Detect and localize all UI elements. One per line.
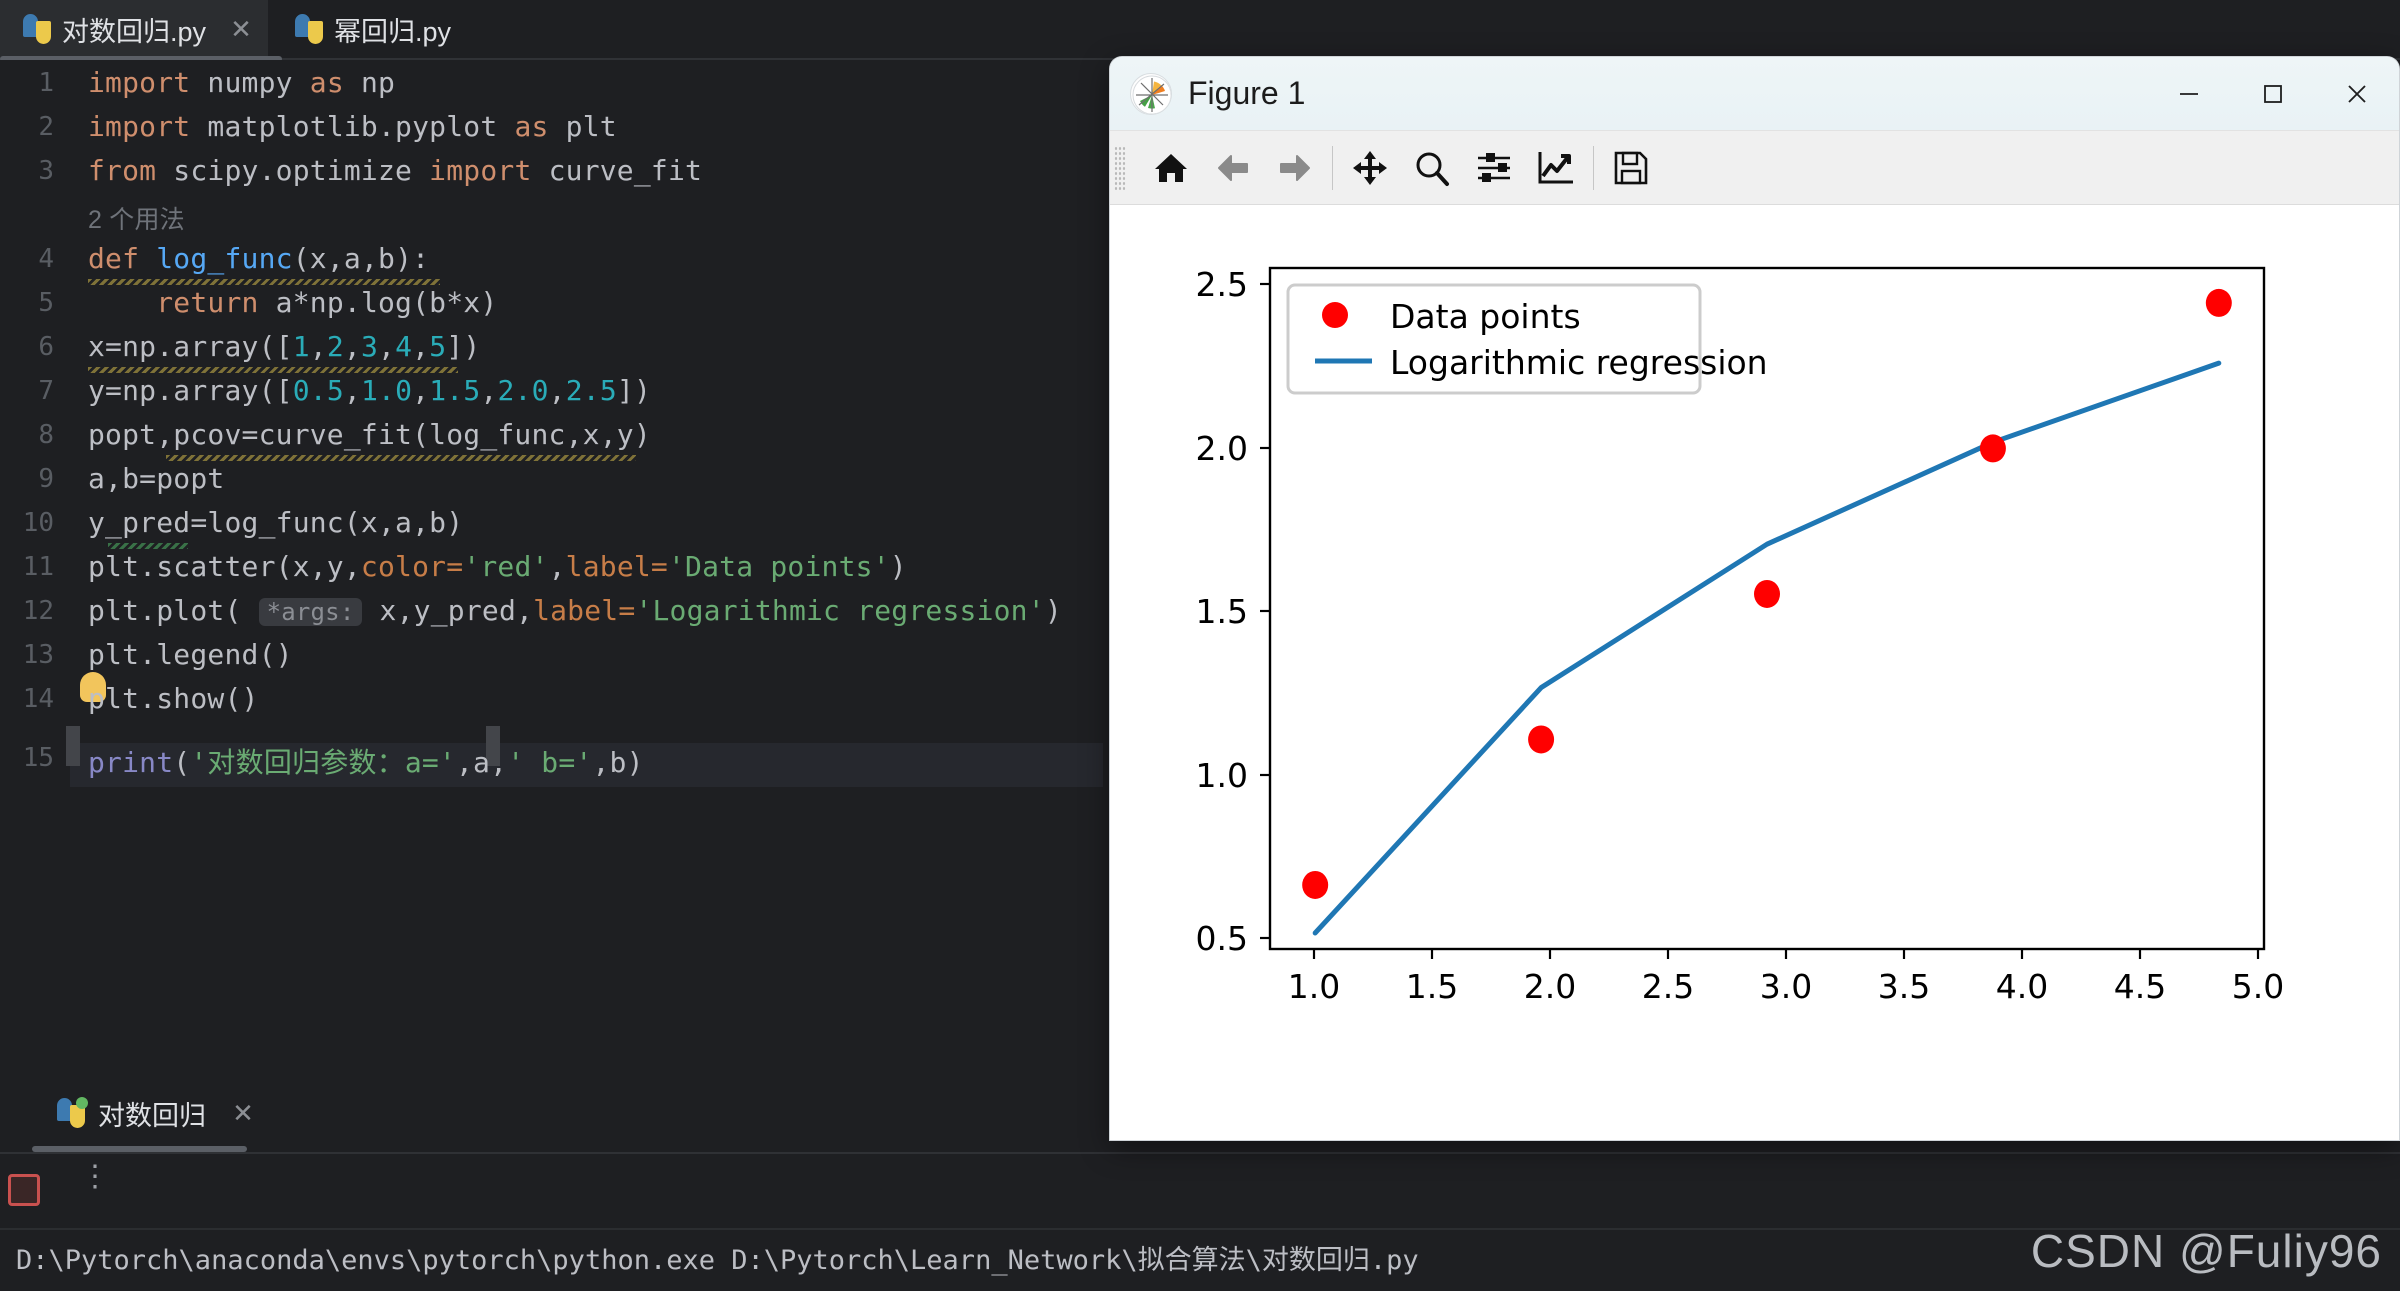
code-text: (x,a,b): xyxy=(293,242,429,275)
code-text: ,b xyxy=(592,746,626,779)
run-tab-divider xyxy=(0,1152,2400,1154)
matplotlib-axes: 2.5 2.0 1.5 1.0 0.5 xyxy=(1110,205,2399,1140)
number-literal: 1.0 xyxy=(361,374,412,407)
code-text: matplotlib.pyplot xyxy=(190,110,514,143)
line-number: 2 xyxy=(4,112,54,142)
comma: , xyxy=(378,330,395,363)
keyword-as: as xyxy=(310,66,344,99)
text-selection-left xyxy=(66,726,80,766)
minimize-button[interactable] xyxy=(2147,57,2231,130)
magnifier-icon xyxy=(1412,148,1452,188)
code-line-15: print('对数回归参数：a=',a,' b=',b) xyxy=(88,741,644,785)
legend-label-regression: Logarithmic regression xyxy=(1390,343,1768,382)
code-text: plt.scatter(x,y, xyxy=(88,550,361,583)
data-point xyxy=(1302,871,1328,899)
run-tab-log-regression[interactable]: 对数回归 ✕ xyxy=(56,1088,256,1138)
line-number: 10 xyxy=(4,508,54,538)
home-icon xyxy=(1151,148,1191,188)
code-line-11: plt.scatter(x,y,color='red',label='Data … xyxy=(88,550,907,594)
code-text: a*np.log(b*x) xyxy=(259,286,498,319)
figure-window[interactable]: Figure 1 xyxy=(1110,57,2399,1140)
run-tab-label: 对数回归 xyxy=(98,1094,206,1133)
back-button[interactable] xyxy=(1202,137,1264,199)
number-literal: 2.5 xyxy=(566,374,617,407)
x-tick-label: 2.0 xyxy=(1524,967,1576,1006)
code-text: scipy.optimize xyxy=(156,154,429,187)
data-point xyxy=(1980,434,2006,462)
line-number: 9 xyxy=(4,464,54,494)
line-number: 8 xyxy=(4,420,54,450)
run-tab-close-icon[interactable]: ✕ xyxy=(230,1098,256,1129)
editor-gutter: 1 2 3 4 5 6 7 8 9 10 11 12 13 14 15 xyxy=(0,60,70,1080)
string-literal: 'Logarithmic regression' xyxy=(635,594,1044,627)
y-tick-label: 2.0 xyxy=(1196,429,1248,468)
parameter-hint[interactable]: *args: xyxy=(259,598,363,626)
figure-title: Figure 1 xyxy=(1188,75,1305,112)
comma: , xyxy=(310,330,327,363)
code-line-13: plt.legend() xyxy=(88,638,293,682)
figure-toolbar xyxy=(1110,130,2399,205)
line-number: 4 xyxy=(4,244,54,274)
paren: ( xyxy=(173,746,190,779)
number-literal: 4 xyxy=(395,330,412,363)
screen: 对数回归.py ✕ 幂回归.py 1 2 3 4 5 6 7 8 9 xyxy=(0,0,2400,1291)
editor-tab-label: 对数回归.py xyxy=(62,10,206,49)
edit-axis-button[interactable] xyxy=(1525,137,1587,199)
kwarg-label: label= xyxy=(566,550,668,583)
warning-squiggle xyxy=(88,367,458,373)
x-tick-label: 3.0 xyxy=(1760,967,1812,1006)
y-tick-label: 2.5 xyxy=(1196,265,1248,304)
matplotlib-icon xyxy=(1130,73,1172,115)
x-tick-label: 5.0 xyxy=(2232,967,2284,1006)
code-text: ]) xyxy=(617,374,651,407)
configure-subplots-button[interactable] xyxy=(1463,137,1525,199)
line-number: 5 xyxy=(4,288,54,318)
line-number: 6 xyxy=(4,332,54,362)
move-icon xyxy=(1350,148,1390,188)
code-line-5: return a*np.log(b*x) xyxy=(88,286,497,330)
toolbar-drag-handle[interactable] xyxy=(1114,146,1126,190)
number-literal: 1.5 xyxy=(429,374,480,407)
code-text: plt xyxy=(549,110,617,143)
pan-button[interactable] xyxy=(1339,137,1401,199)
python-file-icon xyxy=(294,14,324,44)
function-name: log_func xyxy=(139,242,293,275)
arrow-right-icon xyxy=(1275,148,1315,188)
close-button[interactable] xyxy=(2315,57,2399,130)
string-literal: '对数回归参数：a=' xyxy=(190,746,456,779)
editor-tab-close-icon[interactable]: ✕ xyxy=(228,14,254,45)
y-tick-label: 1.0 xyxy=(1196,756,1248,795)
editor-tab-bar: 对数回归.py ✕ 幂回归.py xyxy=(0,0,2400,58)
code-text: ]) xyxy=(446,330,480,363)
line-number: 12 xyxy=(4,596,54,626)
code-text: ,a, xyxy=(456,746,507,779)
number-literal: 2.0 xyxy=(497,374,548,407)
code-line-2: import matplotlib.pyplot as plt xyxy=(88,110,617,154)
code-text: ) xyxy=(1045,594,1062,627)
code-line-9: a,b=popt xyxy=(88,462,224,506)
arrow-left-icon xyxy=(1213,148,1253,188)
code-text: np xyxy=(344,66,395,99)
python-file-icon xyxy=(22,14,52,44)
stop-process-button[interactable] xyxy=(8,1174,40,1206)
code-text: x=np.array([ xyxy=(88,330,293,363)
x-tick-label: 4.0 xyxy=(1996,967,2048,1006)
usages-inlay-hint[interactable]: 2 个用法 xyxy=(88,200,185,244)
keyword-def: def xyxy=(88,242,139,275)
x-tick-label: 3.5 xyxy=(1878,967,1930,1006)
line-number: 14 xyxy=(4,684,54,714)
code-editor[interactable]: 1 2 3 4 5 6 7 8 9 10 11 12 13 14 15 impo… xyxy=(0,60,1103,1080)
keyword-from: from xyxy=(88,154,156,187)
info-squiggle xyxy=(108,543,188,549)
code-line-12: plt.plot( *args: x,y_pred,label='Logarit… xyxy=(88,594,1062,638)
number-literal: 1 xyxy=(293,330,310,363)
code-line-3: from scipy.optimize import curve_fit xyxy=(88,154,702,198)
legend-marker-data-points xyxy=(1322,302,1348,328)
code-text-area[interactable]: import numpy as np import matplotlib.pyp… xyxy=(88,60,1103,1080)
console-command-line: D:\Pytorch\anaconda\envs\pytorch\python.… xyxy=(16,1238,1419,1277)
y-tick-label: 1.5 xyxy=(1196,592,1248,631)
toolbar-separator xyxy=(1593,146,1594,190)
keyword-import: import xyxy=(429,154,531,187)
string-literal: 'Data points' xyxy=(668,550,890,583)
chart-legend: Data points Logarithmic regression xyxy=(1288,285,1768,393)
chart-line-icon xyxy=(1536,148,1576,188)
x-tick-label: 2.5 xyxy=(1642,967,1694,1006)
number-literal: 2 xyxy=(327,330,344,363)
zoom-button[interactable] xyxy=(1401,137,1463,199)
number-literal: 5 xyxy=(429,330,446,363)
code-text: numpy xyxy=(190,66,309,99)
x-tick-label: 1.5 xyxy=(1406,967,1458,1006)
x-tick-label: 1.0 xyxy=(1288,967,1340,1006)
watermark-text: CSDN @Fuliy96 xyxy=(2031,1224,2382,1278)
editor-tab-label: 幂回归.py xyxy=(334,10,451,49)
figure-title-bar[interactable]: Figure 1 xyxy=(1110,57,2399,130)
kwarg-label: label= xyxy=(533,594,635,627)
legend-label-data-points: Data points xyxy=(1390,297,1581,336)
toolbar-separator xyxy=(1332,146,1333,190)
code-text xyxy=(88,286,156,319)
floppy-disk-icon xyxy=(1611,148,1651,188)
comma: , xyxy=(344,374,361,407)
data-point xyxy=(1528,725,1554,753)
more-options-icon[interactable]: ⋮ xyxy=(80,1172,88,1182)
x-tick-label: 4.5 xyxy=(2114,967,2166,1006)
line-number: 15 xyxy=(4,743,54,773)
sliders-icon xyxy=(1474,148,1514,188)
code-text: y=np.array([ xyxy=(88,374,293,407)
line-number: 11 xyxy=(4,552,54,582)
string-literal: 'red' xyxy=(463,550,548,583)
maximize-button[interactable] xyxy=(2231,57,2315,130)
warning-squiggle xyxy=(88,279,440,285)
line-number: 3 xyxy=(4,156,54,186)
warning-squiggle xyxy=(166,455,636,461)
keyword-return: return xyxy=(156,286,258,319)
line-number: 13 xyxy=(4,640,54,670)
python-run-icon xyxy=(56,1098,86,1128)
comma: , xyxy=(412,374,429,407)
comma: , xyxy=(480,374,497,407)
data-point xyxy=(1754,580,1780,608)
string-literal: ' b=' xyxy=(507,746,592,779)
y-tick-label: 0.5 xyxy=(1196,919,1248,958)
home-button[interactable] xyxy=(1140,137,1202,199)
comma: , xyxy=(344,330,361,363)
code-text: plt.plot( xyxy=(88,594,259,627)
keyword-import: import xyxy=(88,66,190,99)
code-text: curve_fit xyxy=(532,154,703,187)
code-line-1: import numpy as np xyxy=(88,66,395,110)
comma: , xyxy=(549,374,566,407)
window-controls xyxy=(2147,57,2399,130)
forward-button[interactable] xyxy=(1264,137,1326,199)
data-point xyxy=(2206,289,2232,317)
comma: , xyxy=(412,330,429,363)
number-literal: 3 xyxy=(361,330,378,363)
number-literal: 0.5 xyxy=(293,374,344,407)
editor-tab-log-regression[interactable]: 对数回归.py ✕ xyxy=(0,0,268,58)
code-line-14: plt.show() xyxy=(88,682,259,726)
code-text: x,y_pred, xyxy=(362,594,533,627)
keyword-import: import xyxy=(88,110,190,143)
line-number: 1 xyxy=(4,68,54,98)
kwarg-color: color= xyxy=(361,550,463,583)
builtin-print: print xyxy=(88,746,173,779)
code-line-7: y=np.array([0.5,1.0,1.5,2.0,2.5]) xyxy=(88,374,651,418)
editor-tab-power-regression[interactable]: 幂回归.py xyxy=(268,0,465,58)
paren: ) xyxy=(627,746,644,779)
line-number: 7 xyxy=(4,376,54,406)
x-tick-labels: 1.0 1.5 2.0 2.5 3.0 3.5 4.0 4.5 5.0 xyxy=(1288,967,2284,1006)
comma: , xyxy=(549,550,566,583)
save-button[interactable] xyxy=(1600,137,1662,199)
code-text: ) xyxy=(890,550,907,583)
figure-canvas[interactable]: 2.5 2.0 1.5 1.0 0.5 xyxy=(1110,205,2399,1140)
keyword-as: as xyxy=(514,110,548,143)
